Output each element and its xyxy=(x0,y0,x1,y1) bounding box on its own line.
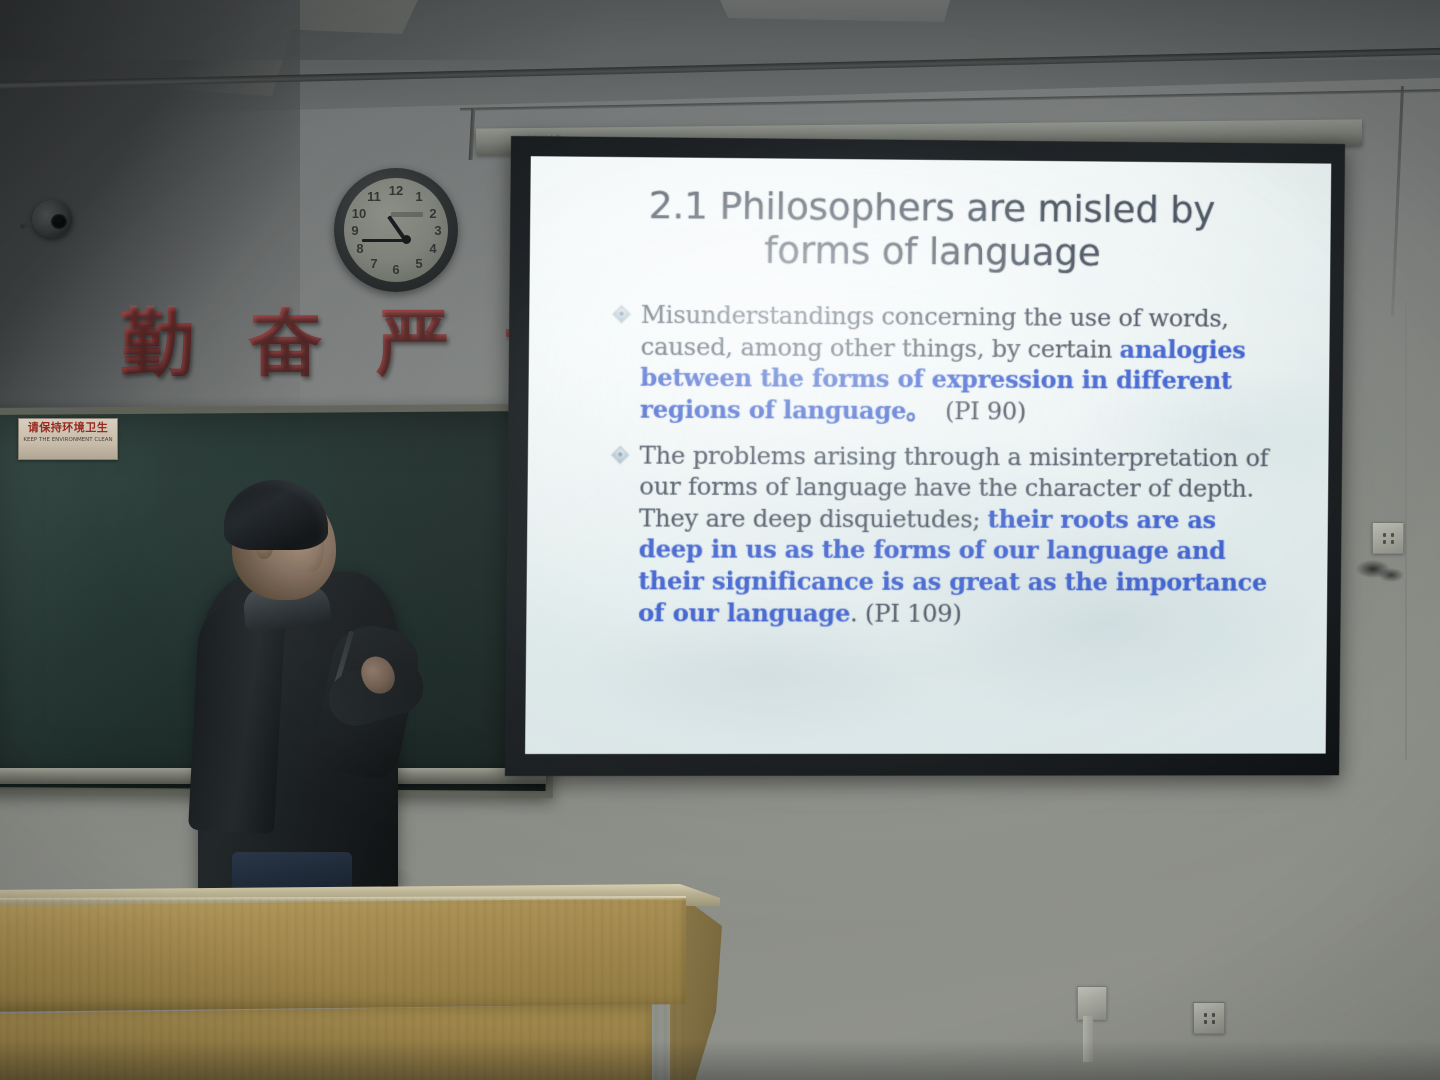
photo-vignette xyxy=(0,0,1440,1080)
classroom-photo: 12 1 2 3 4 5 6 7 8 9 10 11 勤 奋 严 谨 请保持环境… xyxy=(0,0,1440,1080)
